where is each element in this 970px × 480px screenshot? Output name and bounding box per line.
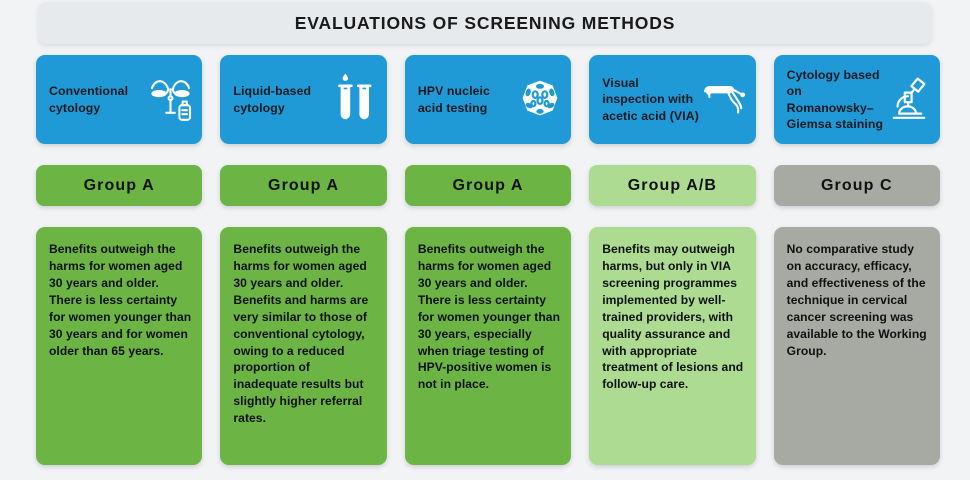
method-label: HPV nucleic acid testing — [418, 83, 515, 116]
method-card[interactable]: Visual inspection with acetic acid (VIA) — [589, 55, 755, 144]
group-label: Group C — [821, 177, 893, 195]
evaluation-text: Benefits outweigh the harms for women ag… — [418, 241, 560, 393]
evaluation-card: No comparative study on accuracy, effica… — [774, 227, 940, 465]
method-label: Cytology based on Romanowsky– Giemsa sta… — [787, 67, 884, 132]
virus-particle-icon — [517, 71, 563, 129]
group-label: Group A — [452, 177, 523, 195]
method-card[interactable]: Liquid-based cytology — [220, 55, 386, 144]
test-tubes-icon — [333, 71, 379, 129]
method-columns: Conventional cytology — [36, 55, 940, 465]
method-label: Conventional cytology — [49, 83, 146, 116]
evaluation-text: Benefits may outweigh harms, but only in… — [602, 241, 744, 393]
method-label: Visual inspection with acetic acid (VIA) — [602, 75, 699, 124]
column-romanowsky-giemsa-cytology: Cytology based on Romanowsky– Giemsa sta… — [774, 55, 940, 465]
group-label: Group A/B — [628, 177, 717, 195]
evaluation-card: Benefits outweigh the harms for women ag… — [220, 227, 386, 465]
evaluation-card: Benefits outweigh the harms for women ag… — [405, 227, 571, 465]
group-label: Group A — [84, 177, 155, 195]
group-bar: Group A — [36, 165, 202, 206]
column-conventional-cytology: Conventional cytology — [36, 55, 202, 465]
group-bar: Group C — [774, 165, 940, 206]
method-card[interactable]: Cytology based on Romanowsky– Giemsa sta… — [774, 55, 940, 144]
evaluation-text: Benefits outweigh the harms for women ag… — [233, 241, 375, 427]
page-title: EVALUATIONS OF SCREENING METHODS — [295, 13, 675, 34]
group-label: Group A — [268, 177, 339, 195]
microscope-icon — [886, 71, 932, 129]
speculum-icon — [702, 71, 748, 129]
evaluation-text: Benefits outweigh the harms for women ag… — [49, 241, 191, 359]
evaluation-card: Benefits may outweigh harms, but only in… — [589, 227, 755, 465]
column-visual-inspection-acetic-acid: Visual inspection with acetic acid (VIA) — [589, 55, 755, 465]
method-label: Liquid-based cytology — [233, 83, 330, 116]
method-card[interactable]: Conventional cytology — [36, 55, 202, 144]
method-card[interactable]: HPV nucleic acid testing — [405, 55, 571, 144]
evaluation-card: Benefits outweigh the harms for women ag… — [36, 227, 202, 465]
group-bar: Group A/B — [589, 165, 755, 206]
group-bar: Group A — [220, 165, 386, 206]
group-bar: Group A — [405, 165, 571, 206]
infographic-root: EVALUATIONS OF SCREENING METHODS Convent… — [0, 0, 970, 480]
column-hpv-nucleic-acid-testing: HPV nucleic acid testing — [405, 55, 571, 465]
uterus-speculum-icon — [148, 71, 194, 129]
page-title-bar: EVALUATIONS OF SCREENING METHODS — [38, 2, 932, 44]
evaluation-text: No comparative study on accuracy, effica… — [787, 241, 929, 359]
column-liquid-based-cytology: Liquid-based cytology Group A — [220, 55, 386, 465]
